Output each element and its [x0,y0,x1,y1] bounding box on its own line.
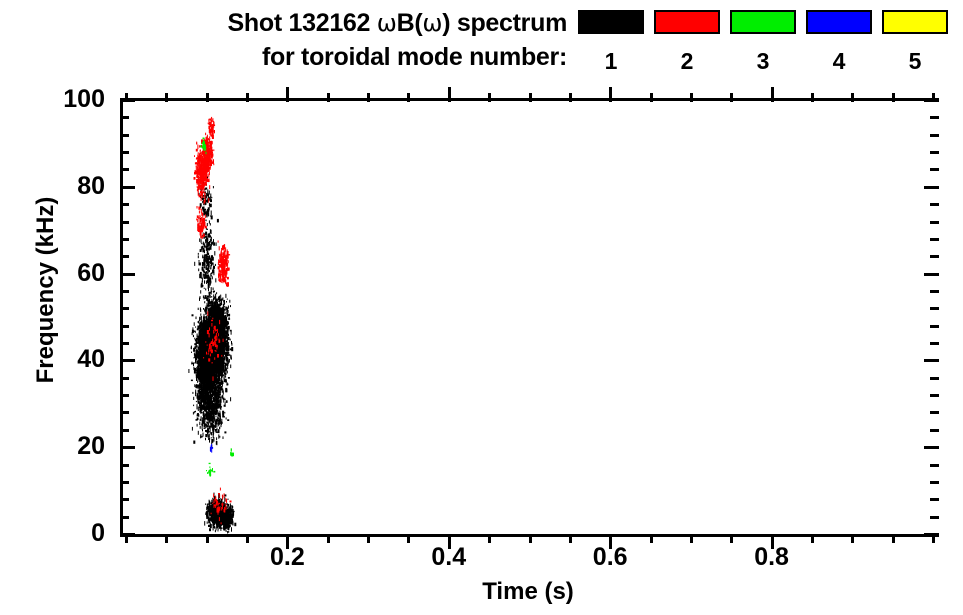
y-tick-major-60 [120,273,135,276]
y-tick-minor [120,203,129,206]
x-tick-top-minor [206,93,209,102]
y-tick-label-0: 0 [0,521,105,546]
y-axis-title: Frequency (kHz) [32,90,60,490]
x-tick-top-minor [690,93,693,102]
x-tick-top-minor [246,93,249,102]
title-b-text: B( [397,9,423,37]
x-tick-top-minor [529,93,532,102]
x-tick-top-minor [327,93,330,102]
x-tick-top-minor [892,93,895,102]
x-tick-minor [529,534,532,543]
x-tick-top-minor [367,93,370,102]
title-line-1: Shot 132162 ωB(ω) spectrum [0,6,575,40]
x-tick-label-0.8: 0.8 [712,545,832,570]
y-tick-right-minor [930,151,939,154]
y-tick-minor [120,221,129,224]
legend-label-1: 1 [578,48,644,74]
x-tick-minor [327,534,330,543]
x-tick-top-minor [125,93,128,102]
y-tick-right-minor [930,221,939,224]
y-tick-right-minor [930,429,939,432]
x-tick-minor [730,534,733,543]
plot-data-area [123,100,936,534]
legend-swatch-3 [730,10,796,34]
omega-symbol-2: ω [422,9,442,37]
y-tick-minor [120,307,129,310]
legend-item-5[interactable]: 5 [882,10,948,74]
y-tick-right-minor [930,516,939,519]
y-tick-minor [120,498,129,501]
x-tick-top-minor [407,93,410,102]
x-tick-top-major-0.4 [448,87,451,102]
x-tick-label-0.2: 0.2 [227,545,347,570]
y-tick-right-minor [930,481,939,484]
x-tick-top-major-0.8 [771,87,774,102]
y-tick-right-minor [930,134,939,137]
x-tick-label-0.4: 0.4 [389,545,509,570]
x-axis-title: Time (s) [120,578,936,606]
x-tick-top-minor [932,93,935,102]
y-tick-right-minor [930,203,939,206]
x-tick-label-0.6: 0.6 [550,545,670,570]
legend-label-2: 2 [654,48,720,74]
y-tick-right-minor [930,325,939,328]
y-tick-right-major-40 [924,359,939,362]
legend-label-3: 3 [730,48,796,74]
y-tick-major-80 [120,186,135,189]
legend-item-4[interactable]: 4 [806,10,872,74]
y-tick-right-minor [930,411,939,414]
y-tick-minor [120,394,129,397]
x-tick-top-major-0.6 [609,87,612,102]
y-tick-right-minor [930,238,939,241]
y-tick-minor [120,325,129,328]
x-tick-minor [206,534,209,543]
y-tick-right-minor [930,464,939,467]
x-tick-minor [367,534,370,543]
legend-swatch-2 [654,10,720,34]
y-tick-minor [120,116,129,119]
y-tick-right-minor [930,116,939,119]
y-tick-minor [120,464,129,467]
x-tick-minor [569,534,572,543]
legend-item-2[interactable]: 2 [654,10,720,74]
y-tick-right-minor [930,307,939,310]
x-tick-minor [892,534,895,543]
y-tick-minor [120,290,129,293]
y-tick-major-40 [120,359,135,362]
y-tick-minor [120,429,129,432]
y-tick-minor [120,411,129,414]
y-tick-right-minor [930,498,939,501]
omega-symbol-1: ω [377,9,397,37]
y-tick-minor [120,151,129,154]
legend-swatch-1 [578,10,644,34]
y-tick-right-minor [930,394,939,397]
y-tick-minor [120,168,129,171]
legend-label-5: 5 [882,48,948,74]
y-tick-right-minor [930,342,939,345]
legend-label-4: 4 [806,48,872,74]
x-tick-top-minor [650,93,653,102]
x-tick-minor [488,534,491,543]
x-tick-top-minor [851,93,854,102]
y-tick-minor [120,377,129,380]
legend-swatch-5 [882,10,948,34]
x-tick-minor [407,534,410,543]
x-tick-top-minor [569,93,572,102]
x-tick-minor [125,534,128,543]
y-tick-right-minor [930,290,939,293]
x-tick-top-minor [488,93,491,102]
legend: 12345 [578,10,958,90]
y-tick-right-minor [930,168,939,171]
y-tick-minor [120,238,129,241]
title-shot-text: Shot 132162 [228,9,377,37]
y-tick-right-major-20 [924,446,939,449]
x-tick-minor [690,534,693,543]
title-spectrum-text: ) spectrum [442,9,567,37]
series-mode-4 [210,444,213,453]
y-tick-right-major-80 [924,186,939,189]
legend-swatch-4 [806,10,872,34]
y-tick-right-minor [930,377,939,380]
y-tick-right-minor [930,255,939,258]
series-mode-1 [188,176,236,533]
spectrogram-points [123,100,936,534]
x-tick-minor [650,534,653,543]
x-tick-top-major-0.2 [286,87,289,102]
x-tick-top-minor [730,93,733,102]
y-tick-minor [120,134,129,137]
y-tick-major-20 [120,446,135,449]
legend-item-1[interactable]: 1 [578,10,644,74]
x-tick-minor [851,534,854,543]
figure-title: Shot 132162 ωB(ω) spectrum for toroidal … [0,6,575,74]
y-tick-minor [120,481,129,484]
x-tick-minor [811,534,814,543]
y-tick-minor [120,516,129,519]
title-line-2: for toroidal mode number: [0,40,575,74]
y-tick-minor [120,342,129,345]
legend-item-3[interactable]: 3 [730,10,796,74]
x-tick-top-minor [165,93,168,102]
x-tick-top-minor [811,93,814,102]
y-tick-minor [120,255,129,258]
x-tick-minor [165,534,168,543]
x-tick-minor [932,534,935,543]
y-tick-right-major-60 [924,273,939,276]
x-tick-minor [246,534,249,543]
spectrogram-figure: Shot 132162 ωB(ω) spectrum for toroidal … [0,0,963,615]
